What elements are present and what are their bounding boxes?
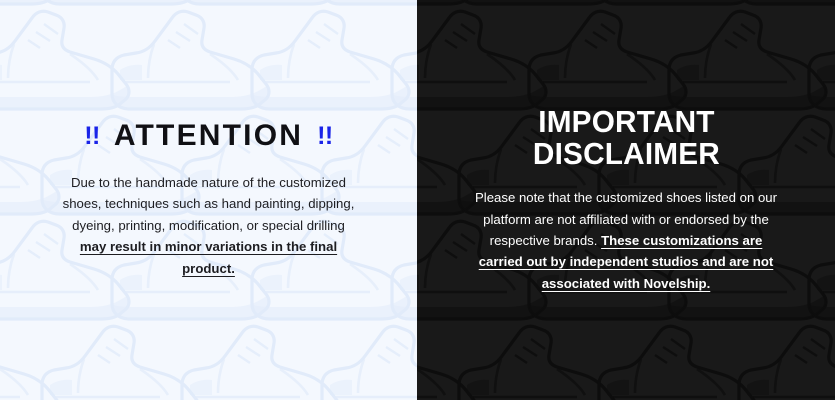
disclaimer-content: IMPORTANT DISCLAIMER Please note that th… <box>417 0 835 400</box>
disclaimer-heading-line1: IMPORTANT <box>532 106 719 138</box>
attention-content: !! ATTENTION !! Due to the handmade natu… <box>0 0 417 400</box>
disclaimer-banner: !! ATTENTION !! Due to the handmade natu… <box>0 0 835 400</box>
attention-body-normal: Due to the handmade nature of the custom… <box>63 175 355 233</box>
disclaimer-heading-line2: DISCLAIMER <box>532 138 719 170</box>
attention-body: Due to the handmade nature of the custom… <box>59 172 359 279</box>
disclaimer-body: Please note that the customized shoes li… <box>467 187 785 294</box>
attention-heading-word: ATTENTION <box>114 121 303 151</box>
disclaimer-panel: IMPORTANT DISCLAIMER Please note that th… <box>417 0 835 400</box>
attention-body-emphasis: may result in minor variations in the fi… <box>80 239 337 275</box>
double-exclamation-right-icon: !! <box>317 124 333 149</box>
attention-panel: !! ATTENTION !! Due to the handmade natu… <box>0 0 417 400</box>
double-exclamation-left-icon: !! <box>84 124 100 149</box>
attention-heading: !! ATTENTION !! <box>84 121 333 151</box>
disclaimer-heading: IMPORTANT DISCLAIMER <box>532 106 719 170</box>
